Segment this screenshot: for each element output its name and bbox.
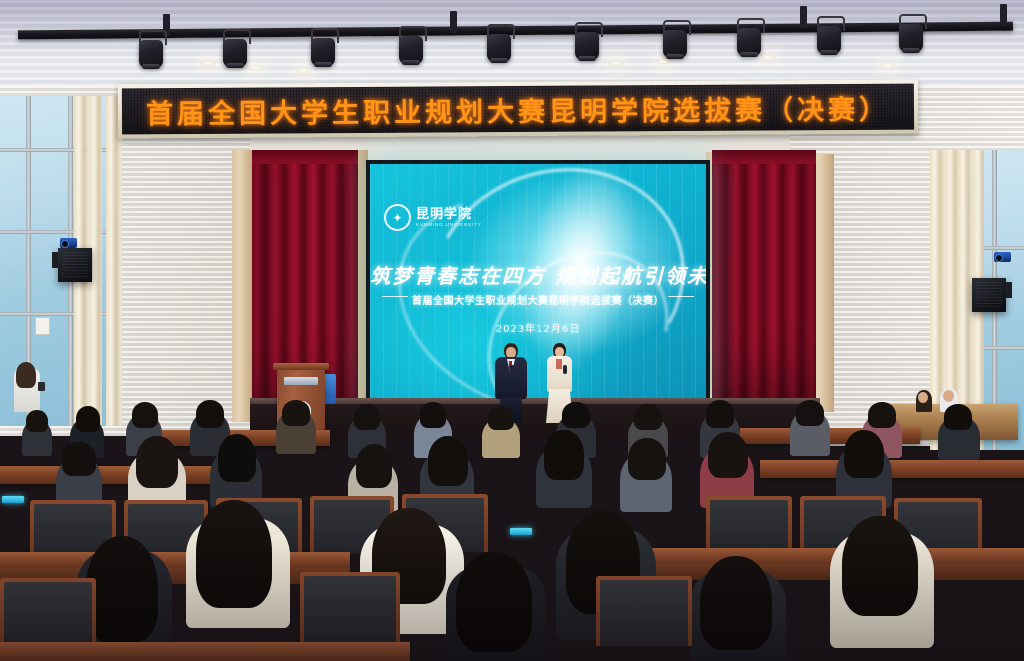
audience-seating [0,400,1024,661]
audience-hair [456,552,532,652]
audience-hair [706,400,734,428]
stage-light [898,14,924,54]
audience-hair [218,434,256,482]
audience-hair [868,402,896,428]
desk-row [0,642,410,661]
audience-hair [844,430,884,478]
photographer-hair [16,362,36,388]
projection-screen: ✦ 昆明学院 KUNMING UNIVERSITY 筑梦青春志在四方 规划起航引… [366,160,710,405]
speaker-mount-right [1006,282,1012,298]
audience-hair [132,402,158,428]
led-banner: 首届全国大学生职业规划大赛昆明学院选拔赛（决赛） [118,80,918,139]
podium-sign [284,377,318,385]
stage-light [816,16,842,56]
audience-hair [842,516,918,616]
truss-clamp [800,6,807,28]
audience-hair [196,400,224,428]
auditorium-photo: 首届全国大学生职业规划大赛昆明学院选拔赛（决赛） ✦ 昆明学院 KUNMING … [0,0,1024,661]
audience-hair [628,438,666,480]
ceiling-downlight [248,64,264,71]
auditorium-seat [0,578,96,648]
desk-row [0,466,230,484]
stage-light [486,24,512,64]
truss-clamp [450,11,457,33]
university-emblem-icon: ✦ [384,204,411,231]
truss-clamp [1000,4,1007,26]
stage-curtain-right [712,150,816,422]
audience-hair [76,406,100,432]
audience-hair [62,442,96,476]
audience-hair [86,536,158,642]
screen-headline: 筑梦青春志在四方 规划起航引领未来 [370,260,706,289]
audience-hair [944,404,972,430]
screen-date: 2023年12月6日 [370,320,706,335]
ceiling-downlight [880,62,896,69]
audience-hair [196,500,272,608]
camera-right [994,252,1011,262]
audience-hair [634,404,662,430]
audience-hair [26,410,48,432]
audience-hair [420,402,446,428]
stage-light [574,22,600,62]
logo-name-en: KUNMING UNIVERSITY [416,223,482,228]
university-logo: ✦ 昆明学院 KUNMING UNIVERSITY [384,204,482,231]
audience-hair [354,404,380,430]
ceiling-downlight [760,54,776,61]
audience-hair [488,406,514,430]
audience-hair [544,430,584,480]
ceiling-downlight [296,67,312,74]
speaker-mount-left [52,252,58,268]
wall-speaker-right [972,278,1006,312]
audience-hair [356,444,392,488]
ceiling-downlight [608,60,624,67]
logo-name-cn: 昆明学院 [416,208,482,221]
audience-hair [708,432,748,478]
wall-sign-left [35,317,50,335]
stage-light [662,20,688,60]
banner-text: 首届全国大学生职业规划大赛昆明学院选拔赛（决赛） [146,87,890,131]
desk-indicator-light [2,496,24,503]
audience-hair [428,436,468,486]
wall-speaker-left [58,248,92,282]
desk-row [760,460,1024,478]
auditorium-seat [300,572,400,642]
audience-hair [700,556,772,650]
photographer-phone [38,382,45,391]
camera-left [60,238,77,248]
ceiling-downlight [200,60,216,67]
screen-subtitle: 首届全国大学生职业规划大赛昆明学院选拔赛（决赛） [370,292,706,307]
stage-light [138,30,164,70]
wall-pilaster [232,150,254,422]
audience-hair [282,400,310,426]
desk-indicator-light [510,528,532,535]
stage-light [310,28,336,68]
audience-hair [796,400,824,426]
stage-light [398,26,424,66]
stage-light [736,18,762,58]
auditorium-seat [706,496,792,554]
stage-light [222,29,248,69]
audience-hair [136,436,178,488]
auditorium-seat [596,576,692,646]
audience-hair [562,402,590,428]
